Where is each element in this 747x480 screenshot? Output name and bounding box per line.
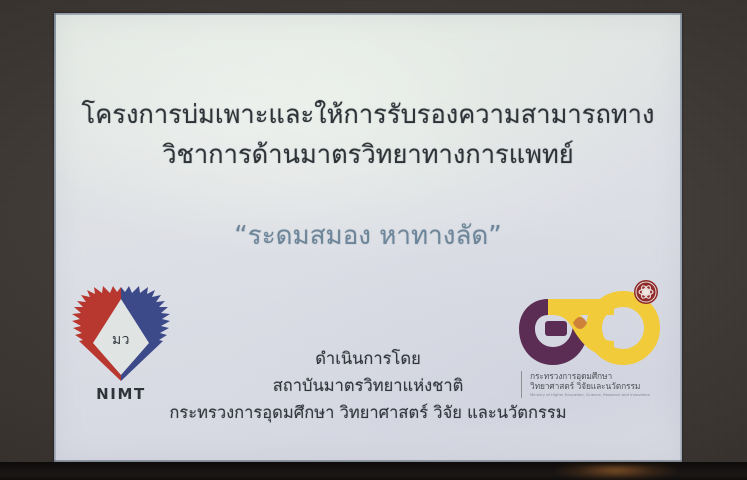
slide-title: โครงการบ่มเพาะและให้การรับรองความสามารถท… (54, 95, 682, 175)
slide-credit-line-3: กระทรวงการอุดมศึกษา วิทยาศาสตร์ วิจัย แล… (54, 399, 682, 426)
slide-title-line-1: โครงการบ่มเพาะและให้การรับรองความสามารถท… (54, 95, 682, 135)
projection-screen: โครงการบ่มเพาะและให้การรับรองความสามารถท… (54, 13, 682, 462)
slide-credit-line-1: ดำเนินการโดย (54, 345, 682, 372)
floor-light-reflection (556, 464, 676, 480)
slide-title-line-2: วิชาการด้านมาตรวิทยาทางการแพทย์ (54, 135, 682, 175)
presentation-slide: โครงการบ่มเพาะและให้การรับรองความสามารถท… (54, 13, 682, 462)
screenshot-root: โครงการบ่มเพาะและให้การรับรองความสามารถท… (0, 0, 747, 480)
slide-subtitle: “ระดมสมอง หาทางลัด” (54, 218, 682, 254)
slide-subtitle-text: “ระดมสมอง หาทางลัด” (54, 218, 682, 254)
atom-icon (634, 280, 658, 304)
slide-credit-line-2: สถาบันมาตรวิทยาแห่งชาติ (54, 372, 682, 399)
slide-credit: ดำเนินการโดย สถาบันมาตรวิทยาแห่งชาติ กระ… (54, 345, 682, 426)
